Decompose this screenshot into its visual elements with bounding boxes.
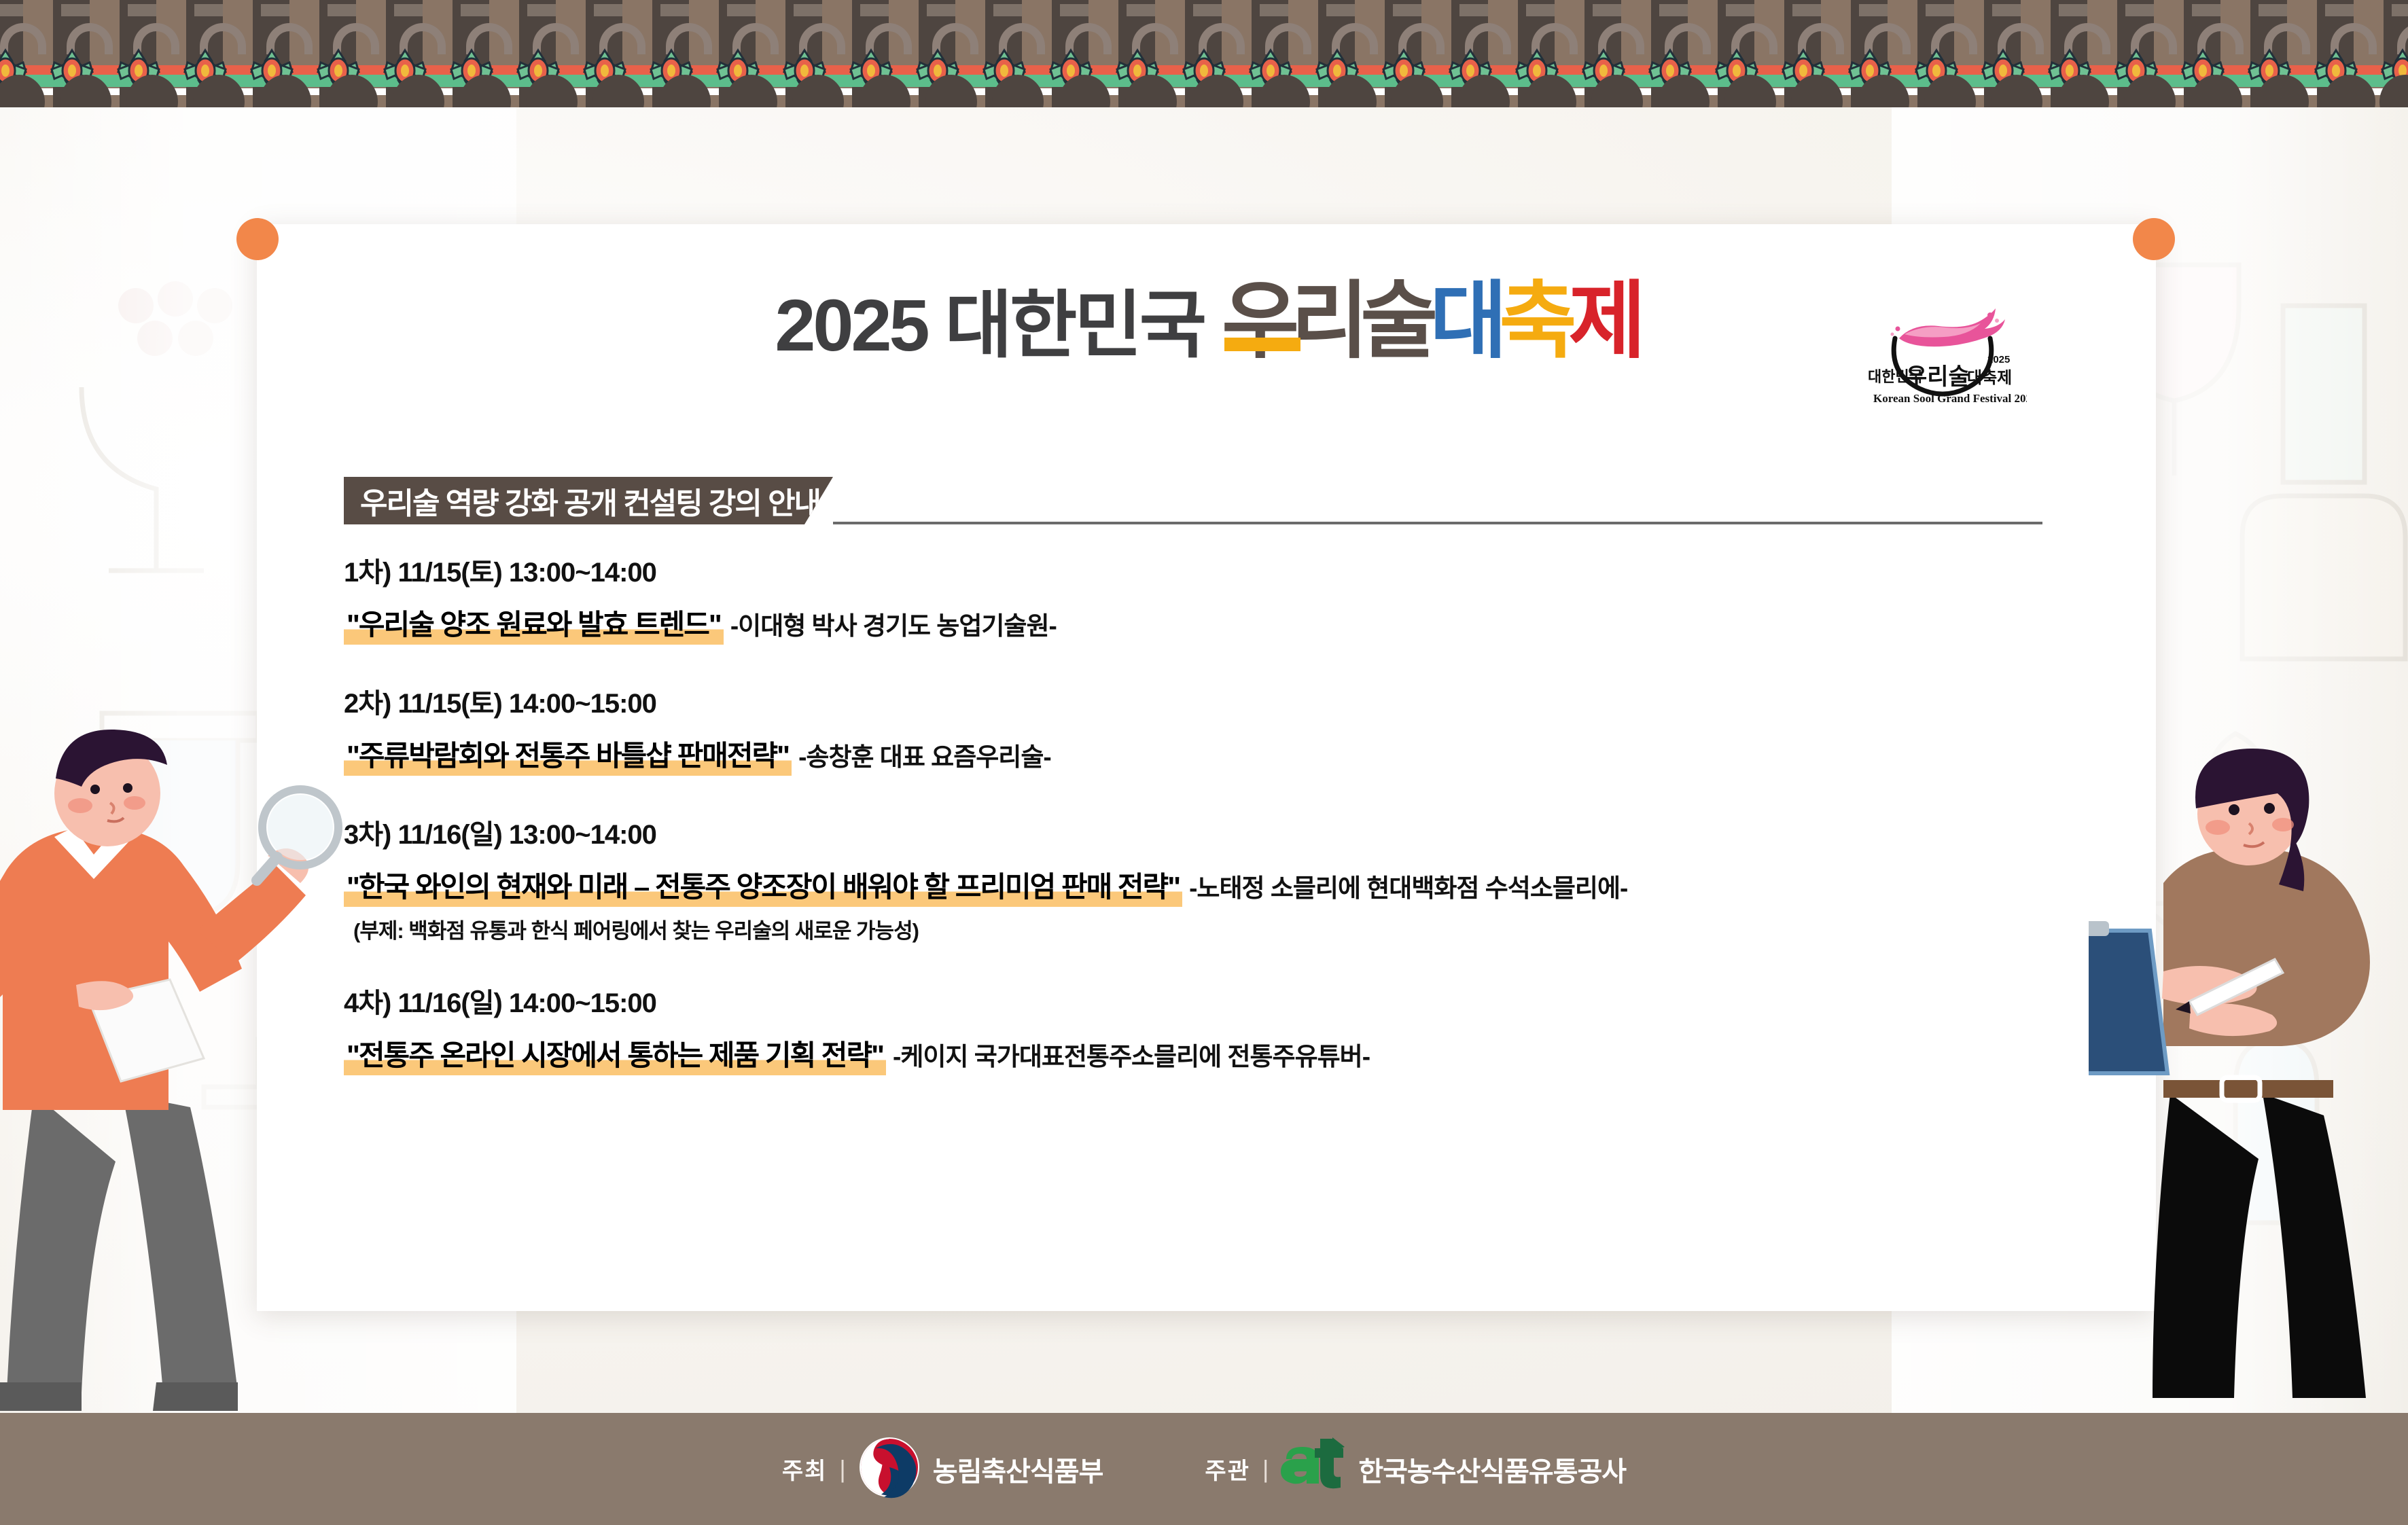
wordmark-accent-underline (1224, 338, 1300, 351)
footer-host-label: 주최 (782, 1452, 828, 1486)
session-time: 2차) 11/15(토) 14:00~15:00 (344, 681, 2124, 721)
footer-divider: | (1262, 1455, 1269, 1484)
session-title-row: "한국 와인의 현재와 미래 – 전통주 양조장이 배워야 할 프리미엄 판매 … (344, 864, 2124, 907)
footer-organizer-label: 주관 (1205, 1452, 1250, 1486)
session-speaker: -이대형 박사 경기도 농업기술원- (730, 605, 1057, 642)
session-time: 3차) 11/16(일) 13:00~14:00 (344, 812, 2124, 852)
illustration-man-with-magnifier (0, 713, 347, 1413)
session-title-row: "주류박람회와 전통주 바틀샵 판매전략" -송창훈 대표 요즘우리술- (344, 733, 2124, 776)
footer-organizer-name: 한국농수산식품유통공사 (1358, 1450, 1626, 1489)
festival-emblem-logo: 대한민국 우리술 대축제 2025 Korean Sool Grand Fest… (1857, 306, 2027, 414)
wordmark-char-3: 술 (1360, 282, 1430, 362)
title-year: 2025 대한민국 (775, 289, 1204, 362)
session-title: "우리술 양조 원료와 발효 트렌드" (344, 602, 724, 645)
illustration-woman-with-clipboard (2089, 713, 2408, 1413)
session-title: "전통주 온라인 시장에서 통하는 제품 기획 전략" (344, 1033, 886, 1075)
corner-dot-right (2133, 218, 2175, 260)
session-subtitle: (부제: 백화점 유통과 한식 페어링에서 찾는 우리술의 새로운 가능성) (344, 914, 2124, 944)
session-item: 2차) 11/15(토) 14:00~15:00 "주류박람회와 전통주 바틀샵… (344, 681, 2124, 776)
session-item: 4차) 11/16(일) 14:00~15:00 "전통주 온라인 시장에서 통… (344, 981, 2124, 1075)
session-list: 1차) 11/15(토) 13:00~14:00 "우리술 양조 원료와 발효 … (344, 550, 2124, 1112)
session-time: 4차) 11/16(일) 14:00~15:00 (344, 981, 2124, 1020)
session-speaker: -노태정 소믈리에 현대백화점 수석소믈리에- (1189, 867, 1627, 904)
wordmark-char-5: 축 (1499, 282, 1568, 362)
content-card: 2025 대한민국 우 리 술 대 축 제 대한민국 우리술 대축제 2025 (257, 224, 2156, 1311)
svg-text:Korean Sool Grand Festival 20: Korean Sool Grand Festival 2025 (1873, 392, 2027, 405)
corner-dot-left (236, 218, 279, 260)
session-speaker: -케이지 국가대표전통주소믈리에 전통주유튜버- (893, 1036, 1370, 1073)
footer-sponsors: 주최 | 농림축산식품부 주관 | 한국농수산식품유통공사 (0, 1413, 2408, 1525)
session-time: 1차) 11/15(토) 13:00~14:00 (344, 550, 2124, 590)
festival-wordmark: 우 리 술 대 축 제 (1222, 282, 1638, 362)
session-title-row: "전통주 온라인 시장에서 통하는 제품 기획 전략" -케이지 국가대표전통주… (344, 1033, 2124, 1075)
at-corporation-logo-icon (1281, 1436, 1346, 1502)
korea-government-taegeuk-icon (858, 1436, 921, 1502)
session-title: "주류박람회와 전통주 바틀샵 판매전략" (344, 733, 792, 776)
section-banner-rule (833, 522, 2042, 524)
wordmark-char-2: 리 (1291, 282, 1360, 362)
section-banner: 우리술 역량 강화 공개 컨설팅 강의 안내 (344, 477, 2042, 524)
svg-text:우리술: 우리술 (1906, 364, 1970, 390)
wordmark-char-4: 대 (1430, 282, 1499, 362)
section-banner-shape: 우리술 역량 강화 공개 컨설팅 강의 안내 (344, 477, 833, 524)
section-banner-title: 우리술 역량 강화 공개 컨설팅 강의 안내 (360, 479, 820, 522)
svg-text:2025: 2025 (1987, 354, 2010, 365)
footer-host-group: 주최 | 농림축산식품부 (782, 1436, 1103, 1502)
session-speaker: -송창훈 대표 요즘우리술- (798, 736, 1051, 773)
wordmark-char-1: 우 (1222, 282, 1291, 362)
korean-roof-tile-border (0, 0, 2408, 107)
svg-text:대축제: 대축제 (1967, 369, 2012, 387)
session-item: 3차) 11/16(일) 13:00~14:00 "한국 와인의 현재와 미래 … (344, 812, 2124, 944)
wordmark-char-6: 제 (1569, 282, 1638, 362)
footer-organizer-group: 주관 | 한국농수산식품유통공사 (1205, 1436, 1626, 1502)
session-item: 1차) 11/15(토) 13:00~14:00 "우리술 양조 원료와 발효 … (344, 550, 2124, 645)
session-title-row: "우리술 양조 원료와 발효 트렌드" -이대형 박사 경기도 농업기술원- (344, 602, 2124, 645)
footer-host-name: 농림축산식품부 (933, 1450, 1103, 1489)
footer-divider: | (839, 1455, 845, 1484)
session-title: "한국 와인의 현재와 미래 – 전통주 양조장이 배워야 할 프리미엄 판매 … (344, 864, 1182, 907)
